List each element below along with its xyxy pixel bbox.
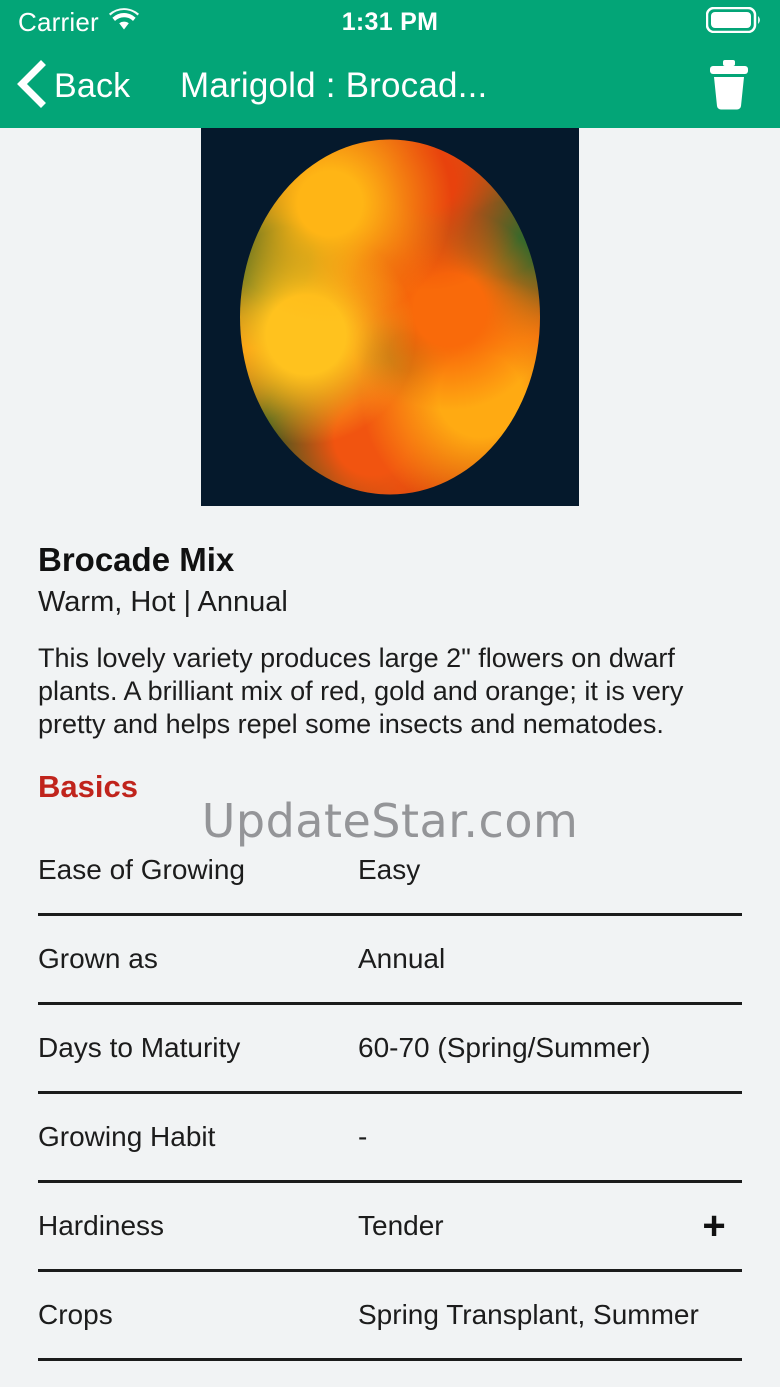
navigation-bar: Back Marigold : Brocad... [0,44,780,128]
row-value: 60-70 (Spring/Summer) [358,1032,726,1064]
back-button-label: Back [54,67,130,106]
row-label: Crops [38,1299,358,1331]
row-value: Spring Transplant, Summer [358,1299,726,1331]
clock-label: 1:31 PM [0,8,780,37]
table-row[interactable]: Grown as Annual [38,916,742,1005]
row-label: Ease of Growing [38,854,358,886]
row-label: Days to Maturity [38,1032,358,1064]
plant-photo[interactable] [201,128,579,506]
plant-photo-oval-vignette [240,140,540,495]
row-label: Hardiness [38,1210,358,1242]
table-row[interactable]: Growing Habit - [38,1094,742,1183]
delete-button[interactable] [706,58,764,115]
detail-content: Brocade Mix Warm, Hot | Annual This love… [0,128,780,1387]
basics-table: Ease of Growing Easy Grown as Annual Day… [38,827,742,1361]
row-value: Tender [358,1210,726,1242]
row-value: Easy [358,854,726,886]
row-label: Growing Habit [38,1121,358,1153]
row-value: - [358,1121,726,1153]
variety-subtitle: Warm, Hot | Annual [38,586,742,619]
variety-info-section: Brocade Mix Warm, Hot | Annual This love… [0,542,780,1361]
back-button[interactable]: Back [14,59,130,114]
trash-icon [706,58,752,115]
table-row[interactable]: Hardiness Tender + [38,1183,742,1272]
table-row[interactable]: Ease of Growing Easy [38,827,742,916]
variety-description: This lovely variety produces large 2" fl… [38,642,742,742]
page-title: Marigold : Brocad... [180,66,487,106]
row-label: Grown as [38,943,358,975]
row-value: Annual [358,943,726,975]
table-row[interactable]: Crops Spring Transplant, Summer [38,1272,742,1361]
chevron-left-icon [14,59,48,114]
variety-name: Brocade Mix [38,542,742,578]
row-expand-icon[interactable]: + [686,1206,742,1246]
status-bar: Carrier 1:31 PM [0,0,780,44]
table-row[interactable]: Days to Maturity 60-70 (Spring/Summer) [38,1005,742,1094]
basics-section-heading: Basics [38,769,742,805]
